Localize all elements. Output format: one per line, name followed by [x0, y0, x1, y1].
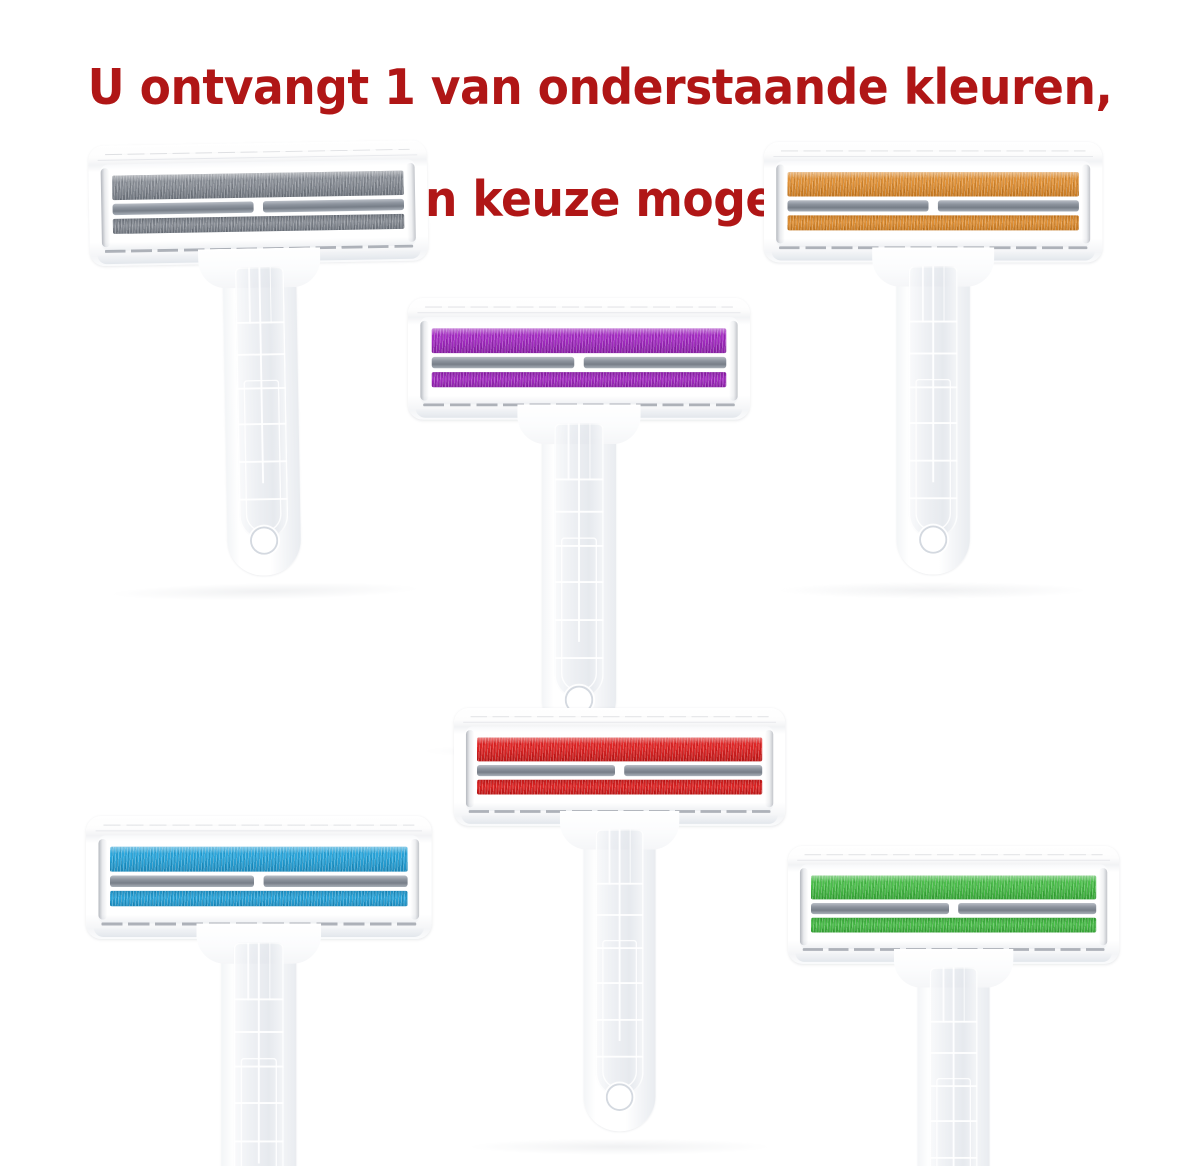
- drum-end-cap-right: [729, 321, 738, 401]
- drum-end-cap-right: [1082, 165, 1090, 244]
- head-seam-line-secondary: [96, 830, 422, 831]
- drop-shadow: [109, 580, 421, 602]
- handle-side-spine-right: [629, 829, 630, 884]
- roller-body: [86, 816, 432, 1166]
- fur-band-top: [477, 737, 762, 761]
- handle-side-spine-right: [589, 423, 590, 480]
- divider-half-left: [477, 765, 615, 776]
- drum-end-cap-left: [800, 868, 808, 945]
- head-seam-line: [425, 307, 733, 308]
- handle-rib-structure: [909, 266, 958, 539]
- roller-oranje: [764, 142, 1102, 593]
- handle-side-spine-left: [247, 943, 248, 1001]
- fur-band-bottom: [477, 780, 762, 795]
- handle-rib: [596, 914, 644, 916]
- handle-side-spine-right: [963, 967, 964, 1022]
- roller-handle: [221, 929, 296, 1166]
- handle-rib-structure: [234, 943, 284, 1166]
- drum-end-cap-left: [466, 730, 474, 807]
- head-seam-line-secondary: [418, 312, 741, 313]
- roller-grijs: [88, 140, 434, 597]
- roller-handle: [542, 410, 616, 735]
- handle-inner-loop: [241, 1058, 277, 1166]
- handle-rib: [930, 1052, 978, 1054]
- handle-side-spine-right: [269, 943, 270, 1001]
- drop-shadow: [778, 582, 1089, 599]
- roller-handle: [222, 253, 301, 576]
- roller-head: [454, 708, 785, 826]
- hanging-hole: [919, 526, 947, 554]
- drum-end-cap-right: [765, 730, 773, 807]
- divider-half-left: [110, 876, 254, 888]
- roller-paars: [408, 298, 750, 754]
- roller-drum: [419, 317, 738, 404]
- roller-blauw: [86, 816, 432, 1166]
- handle-rib-structure: [554, 423, 603, 699]
- head-seam-line: [805, 854, 1103, 855]
- roller-divider-bar: [110, 876, 408, 888]
- drum-end-cap-left: [776, 165, 784, 244]
- divider-half-left: [432, 357, 575, 368]
- handle-side-spine-left: [609, 829, 610, 884]
- roller-groen: [788, 846, 1119, 1166]
- roller-drum: [775, 161, 1091, 247]
- handle-rib-structure: [930, 967, 978, 1166]
- divider-half-right: [624, 765, 762, 776]
- handle-inner-loop: [915, 379, 951, 531]
- head-seam-line-secondary: [463, 722, 776, 723]
- roller-divider-bar: [113, 199, 405, 215]
- head-seam-line: [781, 150, 1086, 151]
- roller-head: [764, 142, 1102, 262]
- fur-band-top: [110, 847, 408, 872]
- handle-rib: [930, 1021, 978, 1023]
- drum-end-cap-left: [420, 321, 429, 401]
- divider-half-right: [958, 903, 1096, 914]
- product-image-canvas: U ontvangt 1 van onderstaande kleuren, g…: [0, 0, 1200, 1166]
- fur-band-bottom: [788, 215, 1079, 230]
- fur-band-top: [112, 171, 404, 201]
- fur-band-top: [432, 328, 727, 353]
- fur-band-bottom: [432, 372, 727, 387]
- handle-inner-loop: [243, 380, 281, 533]
- handle-rib: [234, 1031, 284, 1033]
- head-seam-line: [103, 825, 414, 826]
- head-seam-line-secondary: [773, 156, 1093, 157]
- handle-side-spine-left: [922, 266, 923, 322]
- handle-rib: [909, 353, 958, 355]
- roller-head: [86, 816, 432, 939]
- divider-half-left: [113, 201, 254, 215]
- handle-side-spine-right: [943, 266, 944, 322]
- page-title-line-1: U ontvangt 1 van onderstaande kleuren,: [42, 60, 1158, 116]
- handle-rib: [234, 998, 284, 1000]
- handle-rib-structure: [235, 267, 289, 540]
- handle-rib: [909, 321, 958, 323]
- handle-rib-structure: [596, 829, 644, 1096]
- roller-body: [88, 140, 434, 597]
- fur-band-bottom: [811, 918, 1096, 933]
- roller-divider-bar: [432, 357, 727, 368]
- roller-drum: [465, 726, 774, 811]
- handle-inner-loop: [936, 1078, 971, 1166]
- roller-divider-bar: [811, 903, 1096, 914]
- divider-half-left: [788, 200, 929, 211]
- drum-end-cap-right: [1099, 868, 1107, 945]
- handle-rib: [554, 479, 603, 481]
- roller-divider-bar: [788, 200, 1079, 211]
- handle-inner-loop: [561, 537, 597, 691]
- hanging-hole: [606, 1083, 634, 1111]
- head-seam-line: [105, 149, 410, 155]
- divider-half-left: [811, 903, 949, 914]
- roller-drum: [799, 864, 1108, 949]
- fur-band-bottom: [113, 214, 405, 234]
- roller-body: [454, 708, 785, 1150]
- handle-side-spine-left: [943, 967, 944, 1022]
- divider-half-right: [263, 199, 404, 213]
- handle-inner-loop: [602, 940, 637, 1089]
- roller-drum: [100, 159, 417, 251]
- roller-handle: [584, 817, 656, 1132]
- roller-handle: [918, 955, 990, 1166]
- roller-head: [788, 846, 1119, 964]
- drum-end-cap-right: [406, 163, 416, 242]
- fur-band-bottom: [110, 891, 408, 906]
- roller-body: [408, 298, 750, 754]
- divider-half-right: [264, 876, 408, 888]
- fur-band-top: [788, 172, 1079, 196]
- head-seam-line: [471, 716, 769, 717]
- drum-end-cap-left: [101, 168, 111, 247]
- handle-side-spine-left: [568, 423, 569, 480]
- divider-half-right: [938, 200, 1079, 211]
- roller-body: [764, 142, 1102, 593]
- roller-divider-bar: [477, 765, 762, 776]
- handle-rib: [596, 883, 644, 885]
- drum-end-cap-left: [98, 839, 107, 920]
- roller-handle: [897, 253, 970, 574]
- fur-band-top: [811, 875, 1096, 899]
- roller-rood: [454, 708, 785, 1150]
- roller-drum: [98, 835, 421, 923]
- head-seam-line-secondary: [797, 860, 1110, 861]
- drop-shadow: [467, 1139, 772, 1156]
- drum-end-cap-right: [410, 839, 419, 920]
- roller-head: [408, 298, 750, 420]
- divider-half-right: [584, 357, 727, 368]
- roller-body: [788, 846, 1119, 1166]
- handle-rib: [554, 511, 603, 513]
